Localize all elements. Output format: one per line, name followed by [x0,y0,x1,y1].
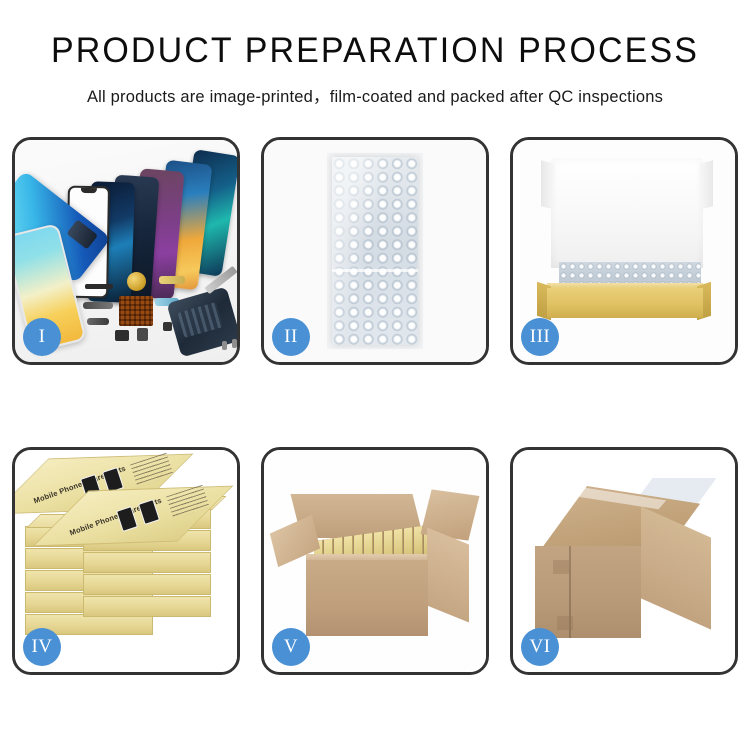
bubble-wrap-seam [332,269,418,272]
screw-part-2-icon [222,341,227,350]
process-step-3: III [510,137,738,365]
step-badge-6: VI [521,628,559,666]
retail-box [83,596,211,617]
carton-side-face [427,528,469,623]
sealed-carton-front-face [535,546,641,638]
process-step-2: II [261,137,489,365]
header: PRODUCT PREPARATION PROCESS All products… [0,0,750,107]
bubble-wrap-icon [332,157,418,345]
step-badge-4: IV [23,628,61,666]
process-step-6: VI [510,447,738,675]
foam-sheet-icon [557,200,697,262]
cable-part-b-icon [87,318,109,325]
flex-cable-gold-icon [159,276,185,284]
inner-box-front-icon [547,288,703,318]
coil-part-icon [127,272,146,291]
sealed-carton-tab-1 [553,560,569,574]
process-step-5: V [261,447,489,675]
screw-part-1-icon [232,339,237,348]
step-badge-3: III [521,318,559,356]
sealed-carton-tab-2 [557,616,573,630]
process-step-grid: I II III [12,137,738,675]
product-preparation-process-page: PRODUCT PREPARATION PROCESS All products… [0,0,750,750]
camera-part-icon [137,328,148,341]
page-subtitle: All products are image-printed，film-coat… [0,83,750,107]
screen-chip-icon [66,219,98,249]
step-badge-2: II [272,318,310,356]
copper-grid-part-icon [119,296,153,326]
process-step-1: I [12,137,240,365]
carton-front-face [306,560,428,636]
step-badge-5: V [272,628,310,666]
spare-parts-group [67,268,237,354]
step-badge-1: I [23,318,61,356]
button-part-icon [163,322,172,331]
cable-part-a-icon [83,302,113,309]
page-title: PRODUCT PREPARATION PROCESS [11,32,739,71]
process-step-4: Mobile Phone Spare Parts Mobile Phone S [12,447,240,675]
speaker-part-icon [115,330,129,341]
retail-box [83,552,211,573]
retail-box [83,574,211,595]
strip-part-icon [85,284,113,289]
